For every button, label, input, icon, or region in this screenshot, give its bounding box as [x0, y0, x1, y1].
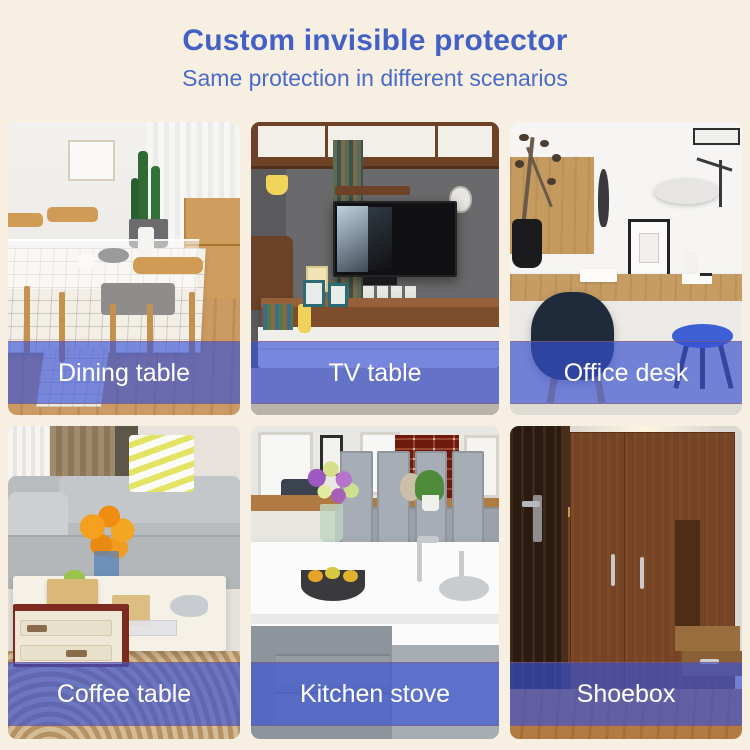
cup: [78, 254, 94, 270]
hanging-feather: [598, 169, 608, 228]
label-band: Coffee table: [8, 662, 240, 726]
chair-back: [8, 213, 43, 228]
books: [263, 304, 293, 330]
yellow-vase: [298, 304, 310, 333]
photo-frame: [303, 280, 325, 306]
scenario-tile-kitchen-stove[interactable]: Kitchen stove: [251, 426, 499, 739]
tile-label: Kitchen stove: [300, 680, 450, 708]
scenario-tile-shoebox[interactable]: Shoebox: [510, 426, 742, 739]
page-title: Custom invisible protector: [0, 22, 750, 60]
drawer-handle: [66, 650, 87, 657]
black-vase: [512, 219, 542, 269]
picture-inner: [639, 233, 659, 262]
screen-glare: [368, 207, 392, 271]
shelf-divider: [325, 122, 328, 166]
tv-stand: [363, 277, 398, 284]
ceramic-jar: [684, 251, 698, 274]
vase: [138, 227, 154, 259]
wall-frame: [68, 140, 114, 181]
branch-bud: [552, 154, 561, 162]
yellow-cup: [266, 175, 288, 196]
open-book: [580, 269, 617, 282]
chevron-pillow: [129, 435, 194, 491]
drawer-handle: [27, 625, 48, 632]
pen: [700, 273, 712, 276]
label-band: Dining table: [8, 341, 240, 404]
bowl: [98, 248, 128, 263]
photo-frame: [328, 283, 348, 306]
tile-label: Coffee table: [57, 680, 191, 708]
shelf-divider: [435, 122, 438, 166]
page-subtitle: Same protection in different scenarios: [0, 62, 750, 94]
cactus-plant: [138, 151, 148, 227]
cabinet-handle: [611, 554, 615, 585]
lamp-arm: [719, 160, 722, 207]
wall-shelf-unit: [251, 122, 499, 169]
chair-back: [47, 207, 98, 222]
scenario-grid: Dining table: [8, 122, 742, 739]
wall-frame: [693, 128, 739, 146]
countertop-edge: [251, 614, 499, 624]
label-band: TV table: [251, 341, 499, 404]
glass-vase: [320, 504, 342, 542]
console-top-surface: [261, 298, 499, 307]
tile-label: TV table: [328, 359, 421, 387]
television: [333, 201, 457, 277]
tile-label: Dining table: [58, 359, 190, 387]
fruit: [343, 570, 358, 583]
entry-door: [510, 426, 566, 701]
plant-pot: [422, 495, 439, 511]
scenario-tile-office-desk[interactable]: Office desk: [510, 122, 742, 415]
bench-shelf: [675, 626, 740, 651]
header: Custom invisible protector Same protecti…: [0, 0, 750, 94]
screen-glare: [337, 206, 368, 272]
chair-back: [133, 257, 203, 275]
label-band: Office desk: [510, 341, 742, 404]
cabinet-handle: [640, 557, 644, 588]
cactus-plant: [131, 178, 139, 225]
label-band: Shoebox: [510, 662, 742, 726]
scenario-tile-dining-table[interactable]: Dining table: [8, 122, 240, 415]
scenario-tile-coffee-table[interactable]: Coffee table: [8, 426, 240, 739]
scenario-tile-tv-table[interactable]: TV table: [251, 122, 499, 415]
media-console: [261, 298, 499, 327]
branch-bud: [515, 160, 524, 168]
kitchen-faucet: [417, 539, 422, 583]
branch-bud: [519, 134, 528, 142]
wall-sockets: [363, 286, 418, 298]
label-band: Kitchen stove: [251, 662, 499, 726]
decor-plank: [335, 186, 409, 195]
door-handle: [522, 501, 541, 507]
flower-bouquet: [306, 460, 361, 510]
desk-lamp: [654, 178, 719, 204]
tile-label: Office desk: [564, 359, 689, 387]
notebook: [682, 274, 712, 284]
silver-ornament: [170, 595, 207, 617]
framed-picture: [628, 219, 670, 278]
shelf-interior: [258, 126, 491, 158]
tile-label: Shoebox: [577, 680, 676, 708]
